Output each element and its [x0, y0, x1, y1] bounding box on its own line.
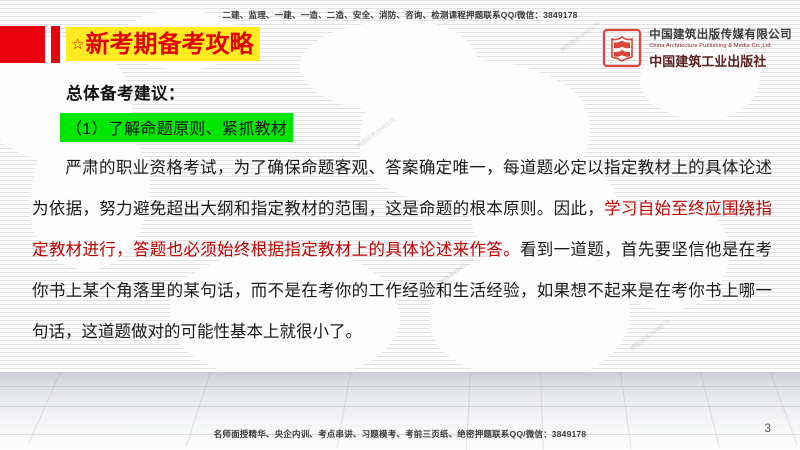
book-logo-icon: [602, 28, 642, 68]
red-block-decoration-small: [51, 26, 60, 63]
footer-contact-text: 名师面授精华、央企内训、考点串讲、习题模考、考前三页纸、绝密押题联系QQ/微信：…: [0, 428, 800, 440]
watermark: 押题联系3849178: [558, 18, 601, 54]
star-icon: ☆: [71, 37, 84, 52]
top-contact-text: 二建、监理、一建、一造、二造、安全、消防、咨询、检测课程押题联系QQ/微信：38…: [0, 9, 800, 21]
publisher-logo: 中国建筑出版传媒有限公司 China Architecture Publishi…: [602, 26, 792, 70]
subsection-heading-highlighted: （1）了解命题原则、紧抓教材: [60, 113, 293, 142]
section-heading: 总体备考建议：: [66, 80, 185, 104]
page-title: 新考期备考攻略: [85, 32, 253, 56]
slide-canvas: 押题联系3849178 押题联系3849178 押题联系3849178 押题联系…: [0, 0, 800, 450]
logo-press-name-cn: 中国建筑工业出版社: [649, 51, 792, 70]
logo-company-name-cn: 中国建筑出版传媒有限公司: [649, 26, 792, 42]
watermark: 押题联系3849178: [354, 114, 397, 150]
red-block-decoration-large: [0, 26, 45, 63]
body-paragraph: 严肃的职业资格考试，为了确保命题客观、答案确定唯一，每道题必定以指定教材上的具体…: [32, 148, 772, 353]
logo-company-name-en: China Architecture Publishing & Media Co…: [649, 43, 792, 49]
page-number: 3: [764, 421, 771, 435]
slide-title-banner: ☆ 新考期备考攻略: [66, 27, 260, 61]
